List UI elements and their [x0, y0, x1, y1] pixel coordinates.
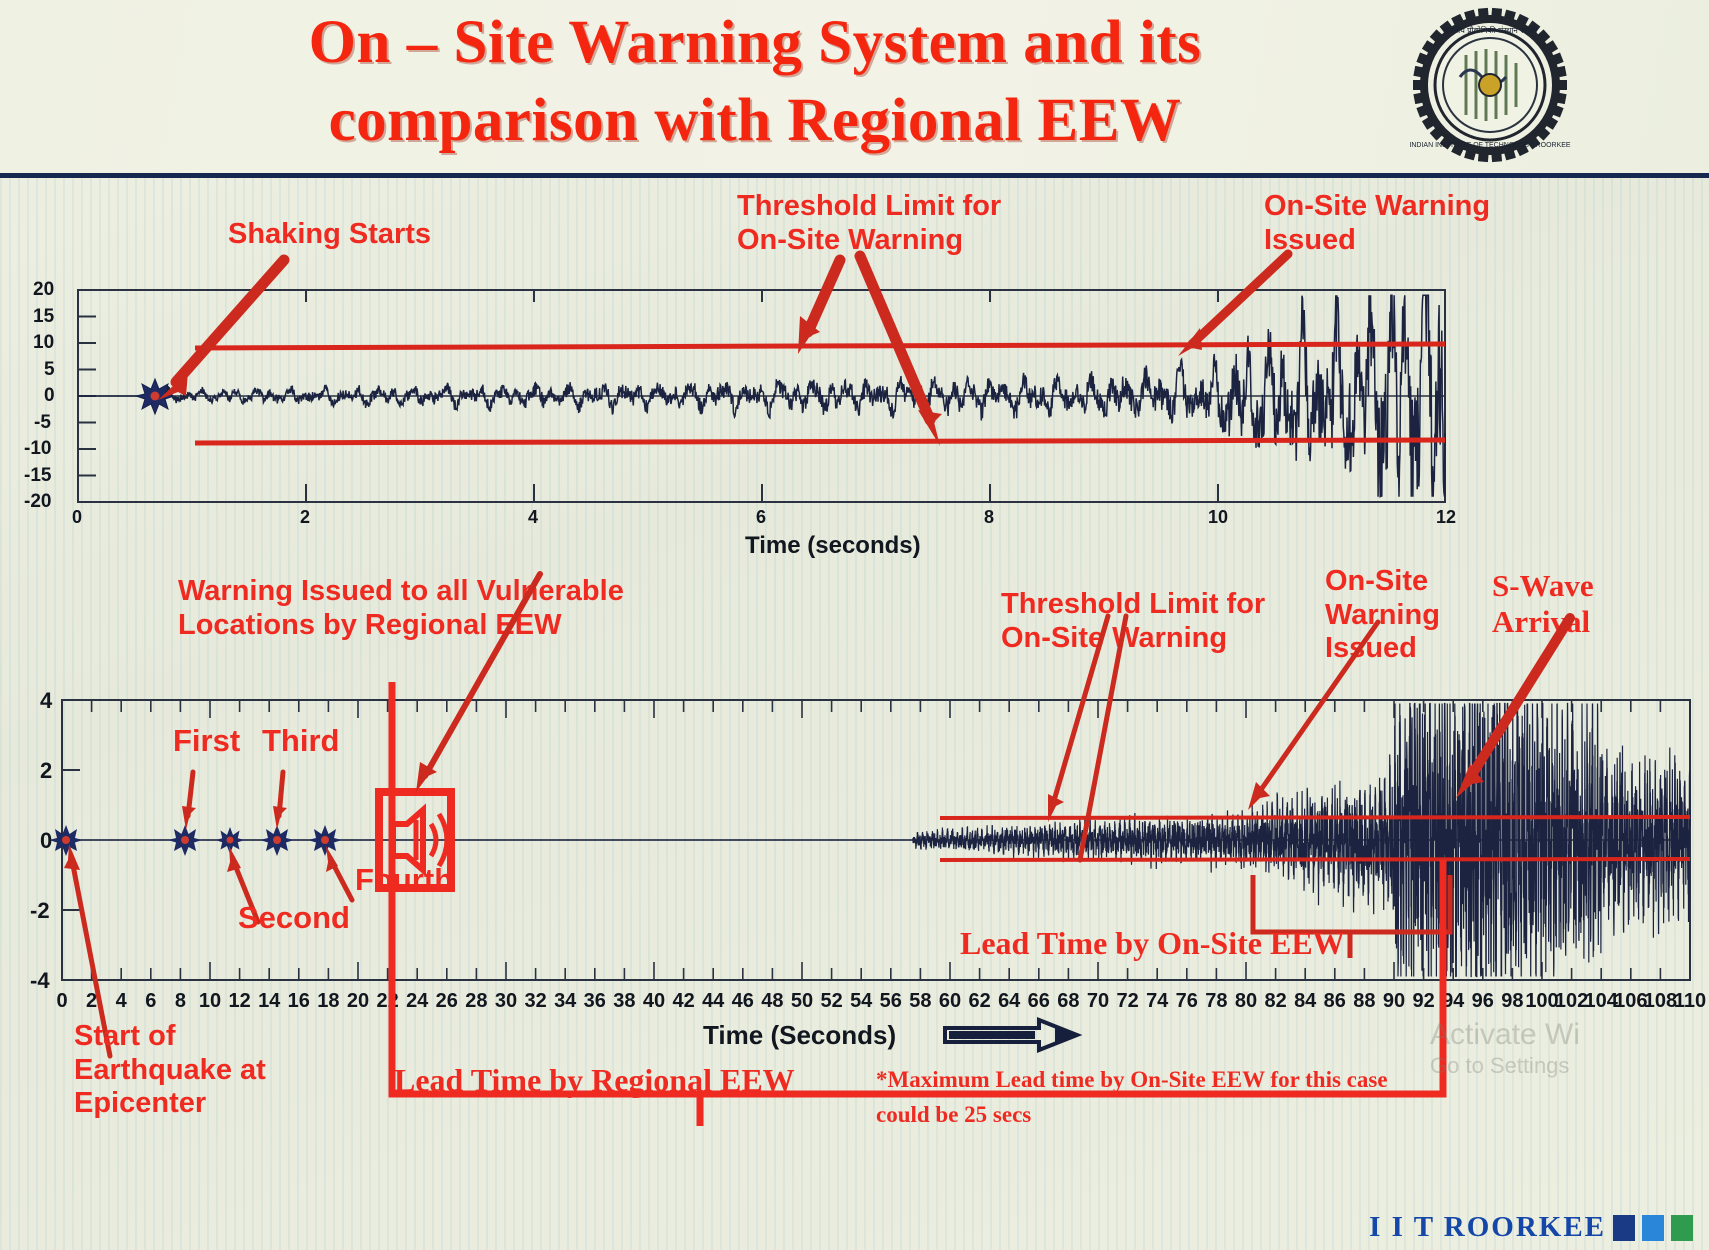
annotation-threshold-limit-2: Threshold Limit for On-Site Warning — [1001, 588, 1265, 655]
annotation-regional-warning-issued: Warning Issued to all Vulnerable Locatio… — [178, 575, 624, 642]
shaking-start-marker — [136, 379, 174, 414]
chart1-ytick-10: 10 — [33, 332, 54, 354]
chart1-ytick--20: -20 — [24, 491, 51, 513]
chart1-ytick-20: 20 — [33, 279, 54, 301]
arrow-shaking-starts — [158, 260, 284, 400]
svg-text:भारतीय प्रौद्योगिकी संस्थान रु: भारतीय प्रौद्योगिकी संस्थान रुड़की — [1443, 25, 1539, 35]
arrow-warning-trigger-1 — [860, 256, 942, 446]
annotation-fourth: Fourth — [355, 862, 453, 898]
chart1-ytick--5: -5 — [34, 412, 51, 434]
chart2-threshold-upper — [940, 817, 1690, 818]
chart2-ytick-2: 2 — [40, 758, 52, 784]
chart1-xtick-0: 0 — [72, 507, 82, 528]
annotation-shaking-starts: Shaking Starts — [228, 218, 431, 252]
annotation-threshold-limit-1: Threshold Limit for On-Site Warning — [737, 190, 1001, 257]
chart-on-site-record: 20 15 10 5 0 -5 -10 -15 -20 0 2 4 6 8 10… — [0, 270, 1500, 560]
footer-brand-text: I I T ROORKEE — [1369, 1211, 1606, 1244]
page-title-line2: comparison with Regional EEW — [120, 82, 1390, 160]
windows-activation-watermark-line2: Go to Settings — [1430, 1053, 1569, 1079]
chart1-ytick--10: -10 — [24, 438, 51, 460]
annotation-onsite-warning-issued-1: On-Site Warning Issued — [1264, 190, 1490, 257]
chart1-xaxis-title: Time (seconds) — [745, 532, 921, 560]
arrow-threshold-limit-1 — [798, 260, 840, 354]
chart1-ytick-15: 15 — [33, 306, 54, 328]
chart2-ytick-4: 4 — [40, 688, 52, 714]
annotation-second: Second — [238, 900, 350, 936]
footer-brand: I I T ROORKEE — [1369, 1211, 1693, 1244]
arrow-third — [273, 772, 287, 830]
page-title-line1: On – Site Warning System and its — [120, 4, 1390, 82]
chart1-svg — [0, 270, 1500, 560]
arrow-onsite-warning-issued-1 — [1178, 254, 1288, 356]
brand-square-dark — [1613, 1215, 1635, 1241]
chart2-ytick--2: -2 — [30, 898, 50, 924]
slide-canvas: On – Site Warning System and its compari… — [0, 0, 1709, 1250]
chart1-xtick-2: 2 — [300, 507, 310, 528]
chart2-threshold-lower — [940, 859, 1690, 860]
chart1-xtick-8: 8 — [984, 507, 994, 528]
marker-start-of-earthquake — [49, 825, 83, 856]
marker-fourth — [308, 825, 342, 856]
chart1-xtick-12: 12 — [1436, 507, 1456, 528]
windows-activation-watermark-line1: Activate Wi — [1430, 1018, 1580, 1052]
iit-roorkee-logo-icon: भारतीय प्रौद्योगिकी संस्थान रुड़की INDIA… — [1404, 2, 1576, 168]
slide-header: On – Site Warning System and its compari… — [0, 0, 1709, 178]
chart2-ytick-0: 0 — [40, 828, 52, 854]
chart1-xtick-10: 10 — [1208, 507, 1228, 528]
arrow-fourth — [326, 846, 352, 900]
annotation-third: Third — [262, 723, 340, 759]
chart1-xtick-4: 4 — [528, 507, 538, 528]
chart1-ytick-0: 0 — [44, 385, 55, 407]
svg-text:INDIAN INSTITUTE OF TECHNOLOGY: INDIAN INSTITUTE OF TECHNOLOGY ROORKEE — [1409, 142, 1570, 149]
brand-square-green — [1671, 1215, 1693, 1241]
arrow-onsite-warning-issued-2 — [1248, 622, 1378, 810]
arrow-first — [182, 772, 196, 830]
annotation-s-wave-arrival: S-Wave Arrival — [1492, 568, 1594, 640]
annotation-first: First — [173, 723, 240, 759]
chart1-threshold-upper — [195, 344, 1445, 348]
chart1-ytick-5: 5 — [44, 359, 55, 381]
annotation-lead-time-onsite: Lead Time by On-Site EEW — [960, 925, 1345, 962]
brand-square-blue — [1642, 1215, 1664, 1241]
chart1-ytick--15: -15 — [24, 465, 51, 487]
annotation-onsite-warning-issued-2: On-Site Warning Issued — [1325, 565, 1440, 666]
page-title: On – Site Warning System and its compari… — [120, 4, 1390, 160]
marker-first — [168, 825, 202, 856]
chart1-xtick-6: 6 — [756, 507, 766, 528]
chart1-threshold-lower — [195, 440, 1445, 443]
